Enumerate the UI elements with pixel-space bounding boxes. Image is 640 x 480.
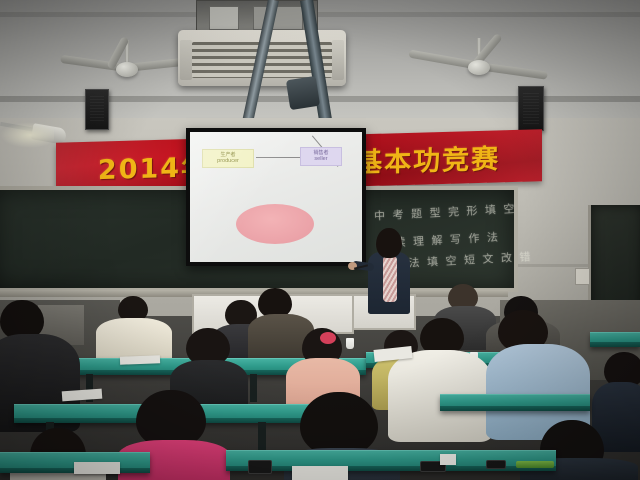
projection-screen-surface: 生产者 producer 销售者 seller — [190, 132, 362, 262]
student-desk — [590, 332, 640, 347]
ceiling-beam — [0, 12, 640, 17]
fan-hub — [116, 62, 138, 77]
projection-screen: 生产者 producer 销售者 seller — [186, 128, 366, 266]
mobile-phone — [248, 460, 272, 474]
projector-panel — [253, 6, 303, 30]
mobile-phone — [486, 460, 506, 469]
presenter-blouse — [383, 256, 397, 302]
chalk-line: 语 法 填 空 短 文 改 错 — [390, 248, 533, 271]
power-outlet — [575, 268, 590, 285]
paper-sheet — [74, 462, 120, 474]
green-pen-case — [516, 461, 554, 468]
slide-box-producer-en: producer — [204, 158, 252, 165]
projector-panel — [209, 6, 239, 30]
paper-sheet — [120, 355, 160, 364]
ac-vent — [180, 40, 192, 80]
desk-leg — [250, 374, 257, 402]
chalk-line: 中 考 题 型 完 形 填 空 — [374, 200, 517, 223]
ceiling-fan-left — [62, 40, 192, 88]
classroom-scene: 2014年人教版教学基本功竞赛 中 考 题 型 完 形 填 空 阅 读 理 解 … — [0, 0, 640, 480]
presenter-hair — [376, 228, 402, 258]
desk-edge — [440, 406, 590, 411]
wall-speaker-right — [518, 86, 544, 131]
student-desk — [440, 394, 590, 411]
hair-clip — [320, 332, 336, 344]
ac-vent — [332, 40, 344, 80]
paper-sheet — [292, 466, 348, 480]
wall-lamp-glow — [0, 122, 54, 148]
projector-head — [286, 76, 320, 110]
slide-box-seller-en: seller — [302, 156, 340, 163]
slide-arrow-icon — [256, 157, 300, 158]
slide-box-producer: 生产者 producer — [202, 149, 254, 168]
fan-hub — [468, 60, 490, 75]
person-head — [300, 392, 378, 456]
slide-box-seller: 销售者 seller — [300, 147, 342, 166]
desk-edge — [226, 466, 556, 471]
paper-cup — [346, 338, 354, 349]
slide-ellipse-shape — [236, 204, 314, 244]
tissue — [440, 454, 456, 465]
wall-speaker-left — [85, 89, 109, 130]
desk-edge — [590, 342, 640, 347]
student-desk — [226, 450, 556, 471]
ceiling-fan-right — [412, 38, 546, 86]
